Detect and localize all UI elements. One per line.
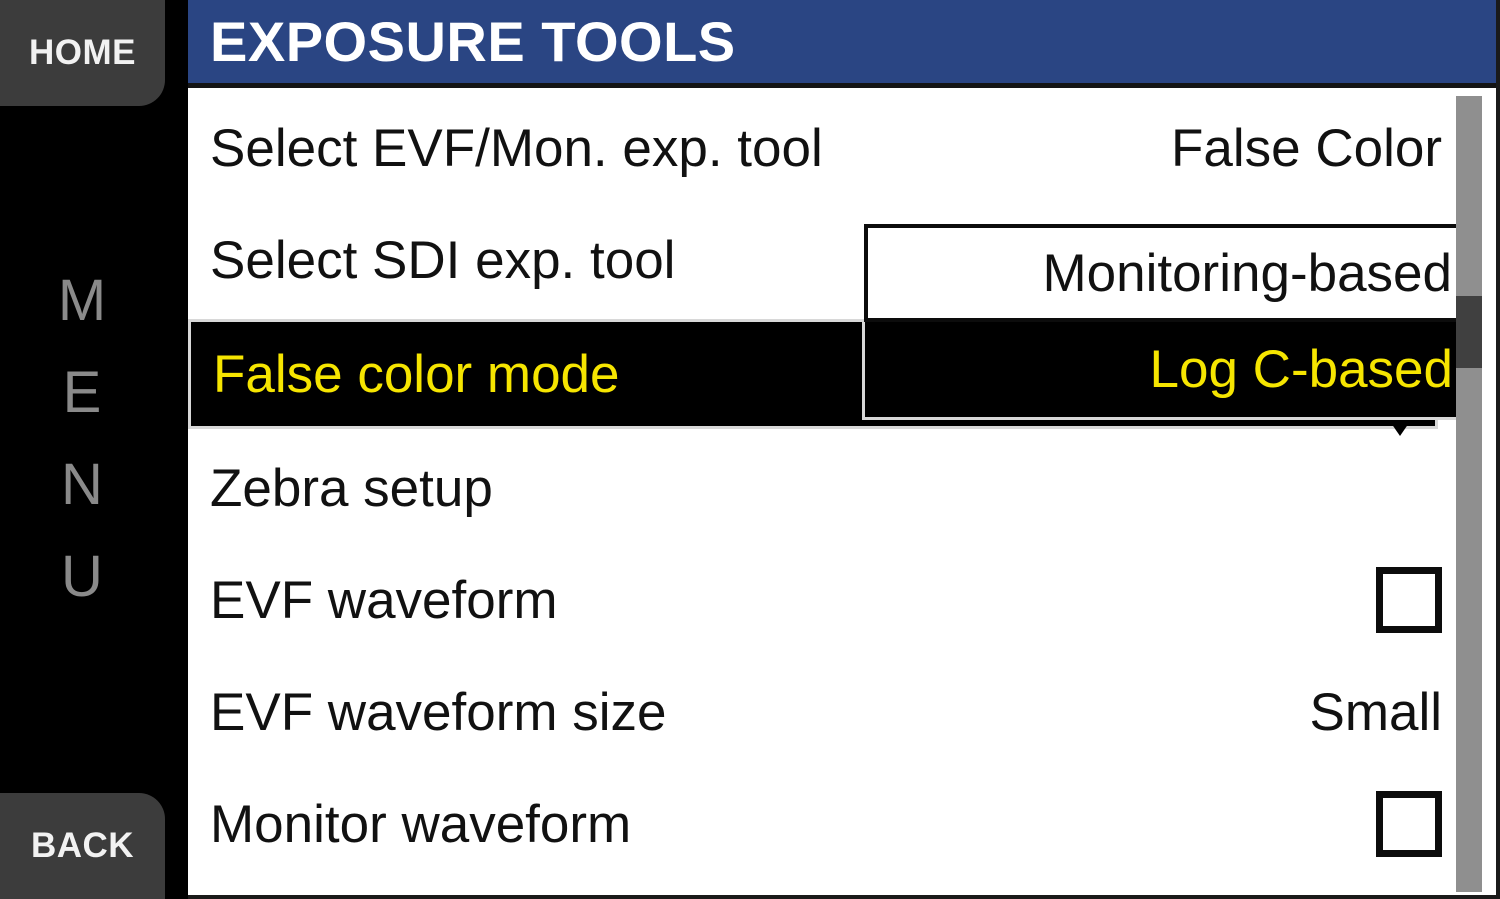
menu-row-select-evf-mon-exp-tool[interactable]: Select EVF/Mon. exp. tool False Color: [188, 93, 1456, 203]
monitor-waveform-checkbox[interactable]: [1376, 791, 1442, 857]
menu-row-label: Select SDI exp. tool: [210, 230, 675, 291]
dropdown-tail-icon: [1389, 420, 1411, 436]
menu-row-monitor-waveform[interactable]: Monitor waveform: [188, 769, 1456, 879]
back-button-label: BACK: [31, 826, 134, 866]
menu-letter-m: M: [0, 255, 165, 347]
menu-row-label: Zebra setup: [210, 458, 493, 519]
dropdown-option-label: Monitoring-based: [1042, 243, 1452, 304]
page-title-bar: EXPOSURE TOOLS: [188, 0, 1500, 88]
dropdown-option-monitoring-based[interactable]: Monitoring-based: [864, 224, 1464, 322]
false-color-mode-dropdown[interactable]: Monitoring-based Log C-based: [862, 224, 1462, 420]
menu-list: Select EVF/Mon. exp. tool False Color Se…: [188, 93, 1500, 893]
menu-letter-n: N: [0, 439, 165, 531]
dropdown-option-label: Log C-based: [1150, 339, 1453, 400]
home-button-label: HOME: [29, 33, 136, 73]
menu-row-value: Small: [1309, 682, 1442, 743]
menu-row-value: False Color: [1171, 118, 1442, 179]
menu-vertical-label: M E N U: [0, 255, 165, 623]
back-button[interactable]: BACK: [0, 793, 165, 899]
menu-row-evf-waveform-size[interactable]: EVF waveform size Small: [188, 657, 1456, 767]
menu-letter-e: E: [0, 347, 165, 439]
menu-row-label: Select EVF/Mon. exp. tool: [210, 118, 823, 179]
menu-row-label: Monitor waveform: [210, 794, 631, 855]
scrollbar[interactable]: [1456, 96, 1482, 892]
dropdown-option-log-c-based[interactable]: Log C-based: [862, 322, 1464, 420]
sidebar: HOME M E N U BACK: [0, 0, 188, 899]
menu-row-label: EVF waveform size: [210, 682, 667, 743]
menu-row-label: False color mode: [213, 344, 620, 405]
menu-letter-u: U: [0, 531, 165, 623]
menu-row-zebra-setup[interactable]: Zebra setup: [188, 433, 1456, 543]
home-button[interactable]: HOME: [0, 0, 165, 106]
content-panel: EXPOSURE TOOLS Select EVF/Mon. exp. tool…: [188, 0, 1500, 899]
evf-waveform-checkbox[interactable]: [1376, 567, 1442, 633]
menu-row-evf-waveform[interactable]: EVF waveform: [188, 545, 1456, 655]
camera-menu-screen: HOME M E N U BACK EXPOSURE TOOLS Select …: [0, 0, 1500, 899]
menu-row-label: EVF waveform: [210, 570, 558, 631]
scrollbar-thumb[interactable]: [1456, 296, 1482, 368]
page-title: EXPOSURE TOOLS: [188, 9, 736, 74]
